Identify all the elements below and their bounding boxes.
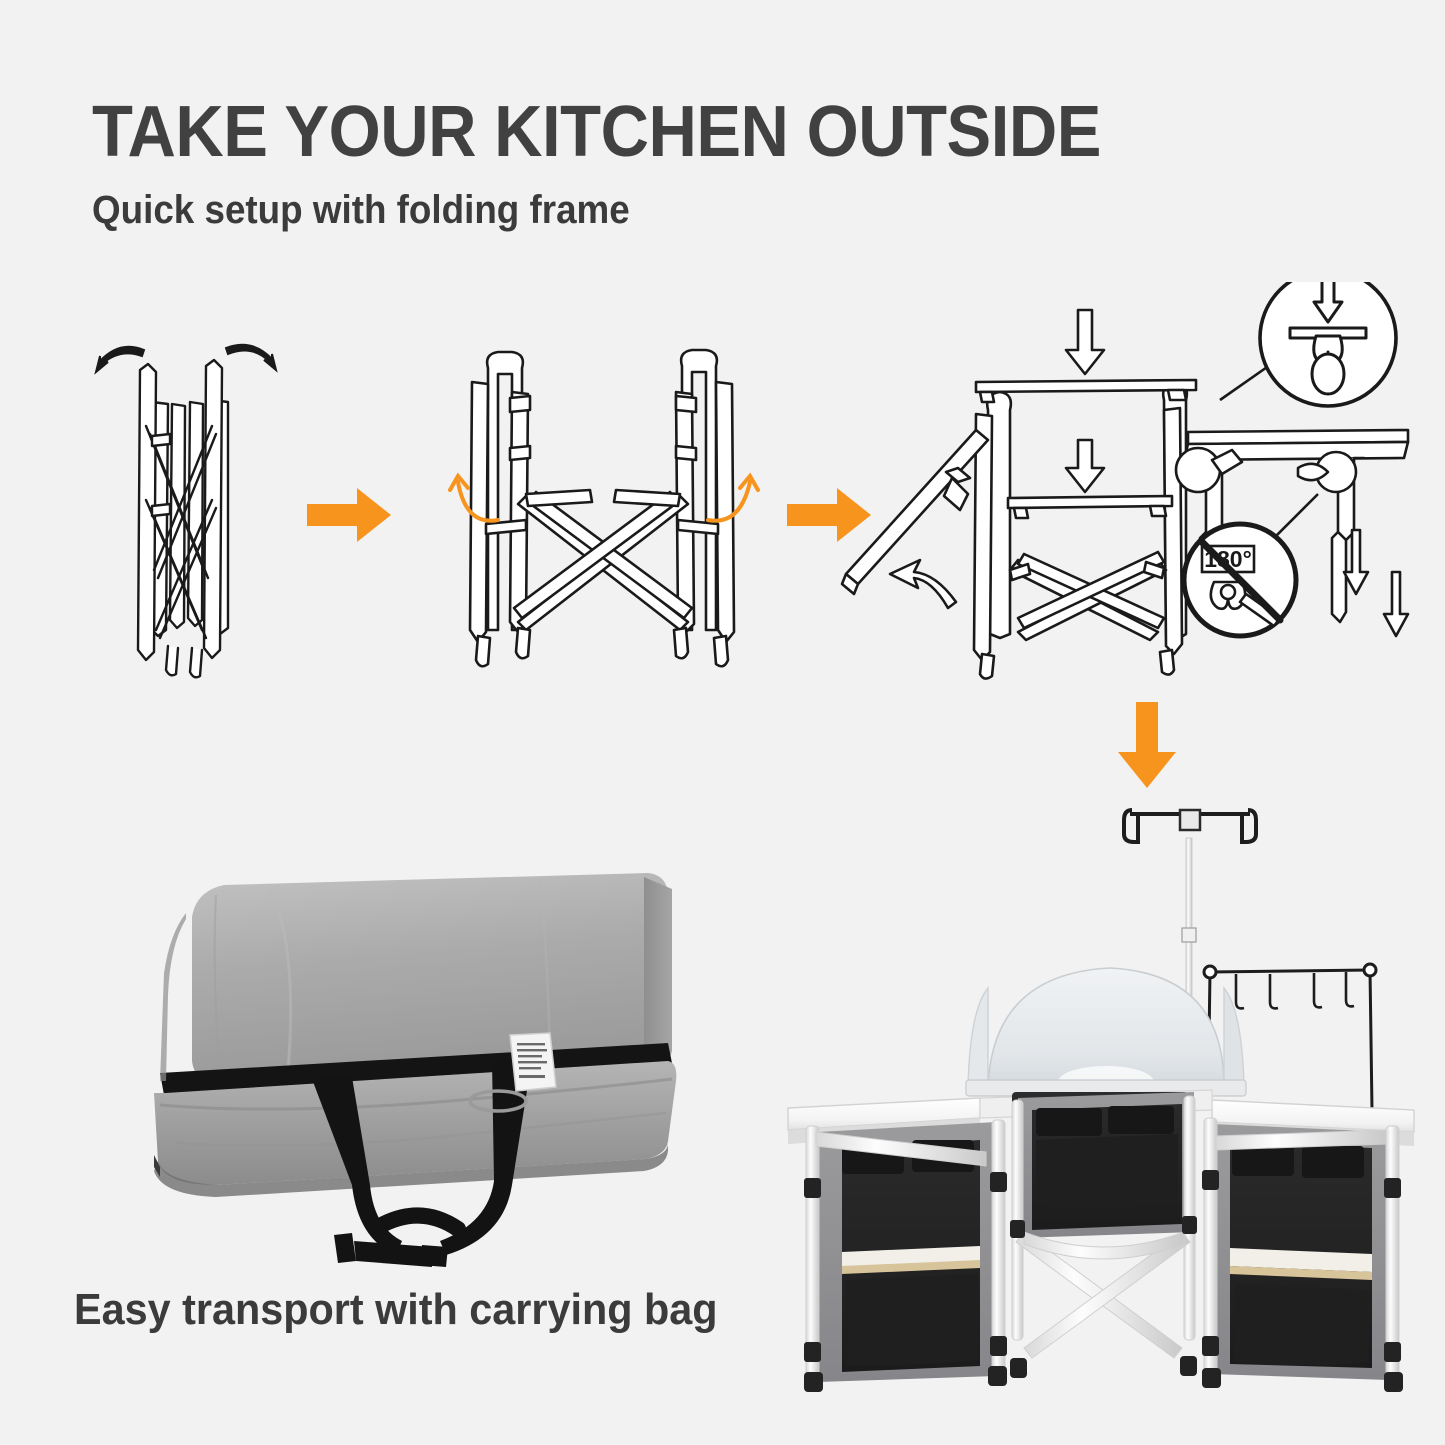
step-3-tabletops: 180° bbox=[828, 282, 1418, 682]
carry-bag-photo bbox=[120, 855, 700, 1275]
unfold-arrow-right bbox=[226, 345, 276, 370]
infographic-root: TAKE YOUR KITCHEN OUTSIDE Quick setup wi… bbox=[0, 0, 1445, 1445]
right-cabinet bbox=[1212, 1124, 1388, 1380]
fold-up-arrow bbox=[890, 560, 956, 608]
page-subtitle: Quick setup with folding frame bbox=[92, 190, 630, 230]
clip-detail-callout bbox=[1220, 282, 1396, 406]
arrow-step1-to-step2 bbox=[305, 484, 395, 551]
windscreen bbox=[966, 968, 1246, 1098]
page-title: TAKE YOUR KITCHEN OUTSIDE bbox=[92, 96, 1101, 168]
step-2-unfolded-frame bbox=[440, 330, 770, 690]
press-down-arrow-top bbox=[1066, 310, 1104, 374]
rotation-limit-callout: 180° bbox=[1184, 494, 1318, 636]
camp-kitchen-photo bbox=[780, 780, 1425, 1405]
unfold-arrow-left bbox=[96, 347, 144, 372]
press-down-arrow-shelf bbox=[1066, 440, 1104, 492]
leg-down-arrow-b bbox=[1384, 572, 1408, 636]
rail-hooks bbox=[1236, 972, 1354, 1008]
care-label bbox=[510, 1033, 556, 1091]
bag-caption: Easy transport with carrying bag bbox=[74, 1288, 718, 1332]
center-cabinet bbox=[1018, 1092, 1194, 1238]
